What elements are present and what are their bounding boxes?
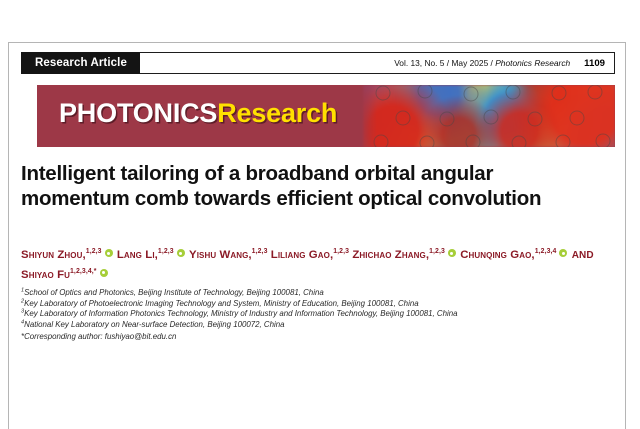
citation-line: Vol. 13, No. 5 / May 2025 / Photonics Re… [394,58,570,68]
author-name: Liliang Gao, [271,249,333,261]
affiliation-item: 1School of Optics and Photonics, Beijing… [21,288,615,299]
author-affiliation-marker: 1,2,3 [333,248,349,255]
author-name: Zhichao Zhang, [352,249,429,261]
article-type-badge: Research Article [21,52,140,74]
citation-volume-date: Vol. 13, No. 5 / May 2025 / [394,58,495,68]
journal-page: Research Article Vol. 13, No. 5 / May 20… [8,42,626,429]
running-head: Research Article Vol. 13, No. 5 / May 20… [21,52,615,74]
author-name: Shiyun Zhou, [21,249,86,261]
orcid-icon[interactable] [105,249,113,257]
banner-gradient-fade [355,85,377,147]
author-affiliation-marker: 1,2,3 [429,248,445,255]
orcid-icon[interactable] [559,249,567,257]
citation-journal-name: Photonics Research [495,58,570,68]
orcid-icon[interactable] [100,269,108,277]
affiliation-list: 1School of Optics and Photonics, Beijing… [21,288,615,331]
affiliation-item: 3Key Laboratory of Information Photonics… [21,309,615,320]
corresponding-author: *Corresponding author: fushiyao@bit.edu.… [21,332,176,341]
author-name: Chunqing Gao, [460,249,535,261]
journal-logo: PHOTONICSResearch [59,98,337,129]
author-name: Lang Li, [117,249,158,261]
running-head-bar: Vol. 13, No. 5 / May 2025 / Photonics Re… [140,52,615,74]
affiliation-text: Key Laboratory of Information Photonics … [24,309,457,318]
journal-logo-word1: PHOTONICS [59,98,217,128]
author-name: Yishu Wang, [189,249,252,261]
page-number: 1109 [584,58,605,69]
ring-overlay-icon [363,85,615,147]
affiliation-item: 2Key Laboratory of Photoelectronic Imagi… [21,299,615,310]
affiliation-text: Key Laboratory of Photoelectronic Imagin… [24,299,418,308]
author-affiliation-marker: 1,2,3 [252,248,268,255]
author-affiliation-marker: 1,2,3,4,* [70,268,97,275]
author-affiliation-marker: 1,2,3 [158,248,174,255]
journal-logo-word2: Research [217,98,337,128]
affiliation-text: School of Optics and Photonics, Beijing … [24,288,324,297]
author-list: Shiyun Zhou,1,2,3 Lang Li,1,2,3 Yishu Wa… [21,246,601,284]
orcid-icon[interactable] [448,249,456,257]
author-affiliation-marker: 1,2,3 [86,248,102,255]
author-name: Shiyao Fu [21,269,70,281]
author-affiliation-marker: 1,2,3,4 [535,248,557,255]
affiliation-item: 4National Key Laboratory on Near-surface… [21,320,615,331]
journal-banner: PHOTONICSResearch [37,85,615,147]
author-conjunction: AND [572,250,594,261]
article-title: Intelligent tailoring of a broadband orb… [21,161,581,211]
orcid-icon[interactable] [177,249,185,257]
affiliation-text: National Key Laboratory on Near-surface … [24,320,284,329]
